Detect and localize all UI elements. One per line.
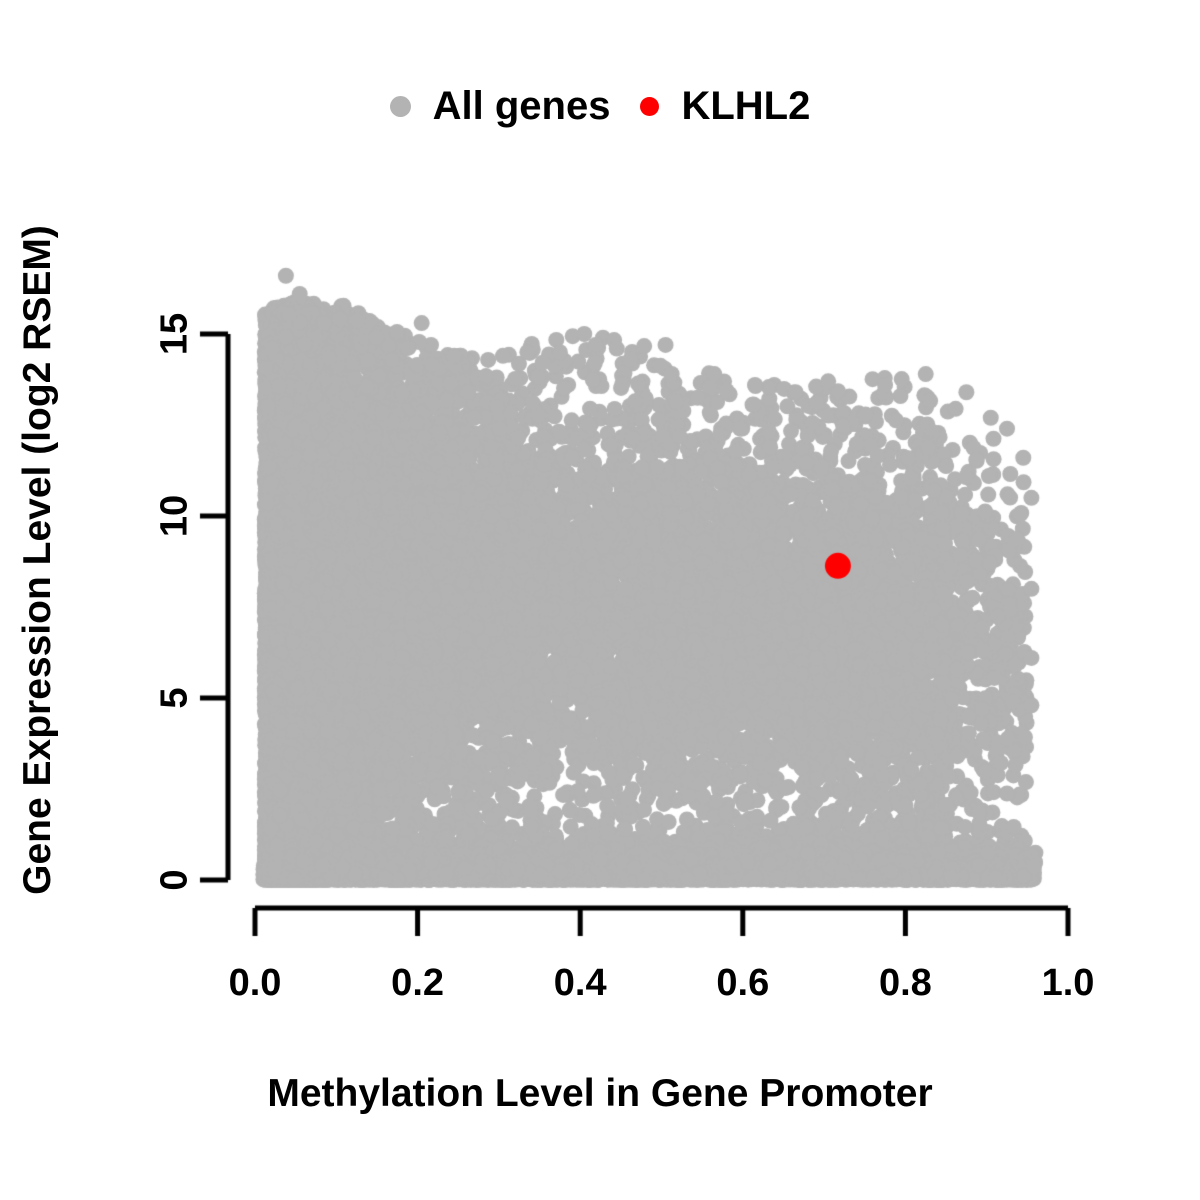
y-tick-label: 5	[154, 687, 197, 708]
y-tick-label: 0	[154, 869, 197, 890]
x-tick-label: 0.0	[229, 962, 282, 1005]
x-tick-label: 0.6	[716, 962, 769, 1005]
x-tick-label: 0.2	[391, 962, 444, 1005]
x-axis-title: Methylation Level in Gene Promoter	[0, 1072, 1200, 1116]
y-tick-label: 10	[154, 495, 197, 537]
x-tick-label: 1.0	[1042, 962, 1095, 1005]
x-tick-label: 0.8	[879, 962, 932, 1005]
x-tick-label: 0.4	[554, 962, 607, 1005]
scatter-plot-canvas	[0, 0, 1200, 1200]
scatter-plot-figure: All genes KLHL2 0.00.20.40.60.81.0 05101…	[0, 0, 1200, 1200]
y-tick-label: 15	[154, 313, 197, 355]
